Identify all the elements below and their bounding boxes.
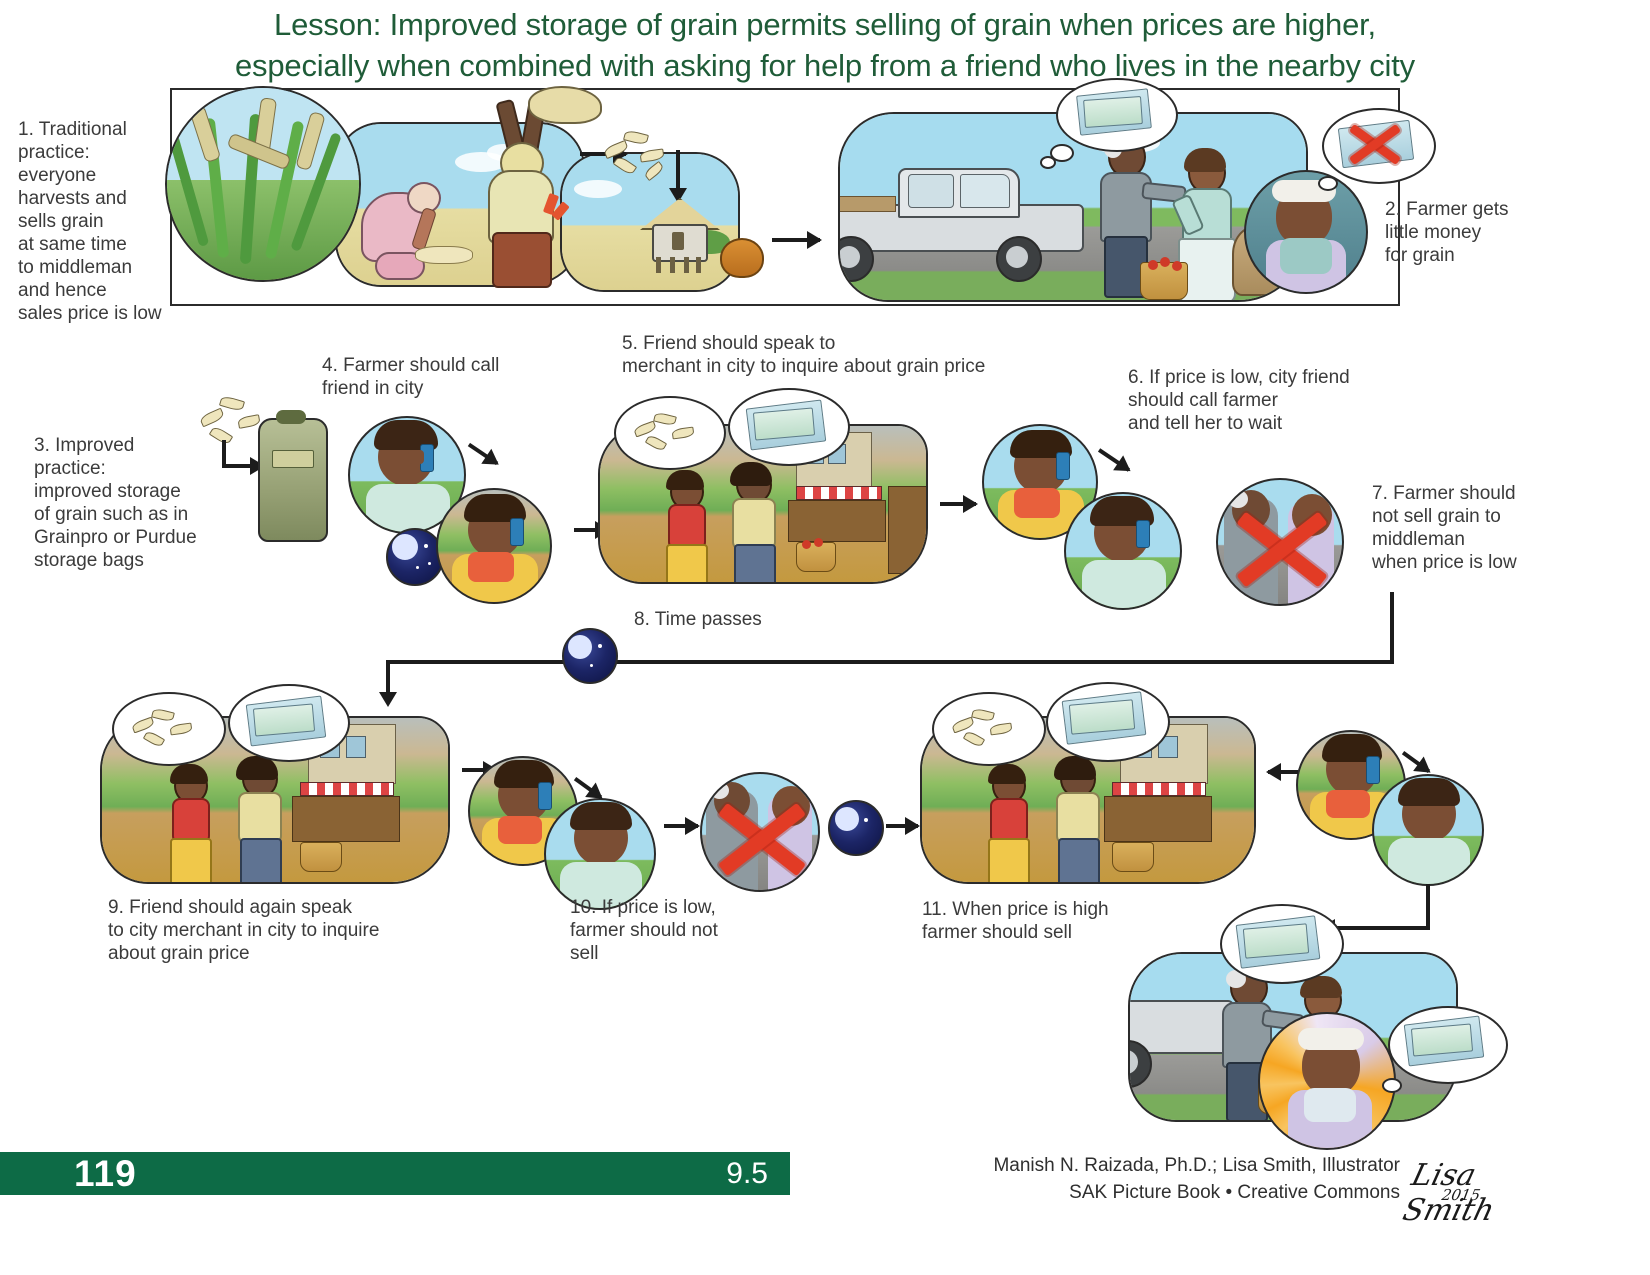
caption-step-4: 4. Farmer should call friend in city [322,354,552,400]
connector-step11-left [1332,926,1430,930]
mobile-phone-icon [1056,452,1070,480]
picture-book-page: Lesson: Improved storage of grain permit… [0,0,1650,1275]
page-title-line1: Lesson: Improved storage of grain permit… [0,4,1650,45]
arrow-step5-to-step6 [940,502,976,506]
arrow-friend-to-farmer [468,443,498,465]
connector-step7-down [1390,592,1394,664]
figure-city-merchant-9 [232,760,294,882]
grain-in-bubble-11 [950,708,1020,748]
figure-city-merchant [726,466,788,584]
scene-farmer-listening-10 [544,798,656,910]
figure-city-merchant-11 [1050,760,1112,882]
banknote-in-bubble-11 [1064,696,1148,744]
mobile-phone-icon [538,782,552,810]
grain-kernels-group [600,128,670,180]
arrow-moon-to-step11 [886,824,918,828]
caption-step-11: 11. When price is high farmer should sel… [922,898,1172,944]
time-moon-icon-step4 [386,528,444,586]
section-number: 9.5 [0,1152,768,1195]
caption-step-5: 5. Friend should speak to merchant in ci… [622,332,1042,378]
red-x-icon [1346,122,1404,164]
banknote-in-bubble-9 [248,700,328,744]
signature-year: 2015 [1440,1186,1481,1204]
credit-line-2: SAK Picture Book • Creative Commons [740,1179,1400,1206]
arrow-friend-to-farmer-6 [1098,448,1130,471]
arrow-step11-to-market-left [1268,770,1298,774]
time-passes-moon-icon-2 [828,800,884,856]
arrow-granary-to-market [772,238,820,242]
mobile-phone-icon [510,518,524,546]
figure-city-friend-9 [164,768,222,882]
figure-threshing-farmer [466,98,586,288]
scene-farmer-told-to-wait [1064,492,1182,610]
page-title: Lesson: Improved storage of grain permit… [0,4,1650,86]
banknote-crossed [1340,122,1414,166]
arrow-10a-to-10b [574,777,602,799]
market-awning [796,486,882,500]
scene-farmer-happy-11 [1372,774,1484,886]
caption-step-6: 6. If price is low, city friend should c… [1128,366,1408,435]
banknote-in-bubble-final [1238,920,1322,968]
connector-to-step9 [386,660,390,696]
illustrator-signature: Lisa Smith 2015 [1408,1158,1528,1218]
pickup-truck [838,166,1100,276]
connector-step11-down [1426,884,1430,930]
figure-bending-farmer [355,162,451,282]
credits: Manish N. Raizada, Ph.D.; Lisa Smith, Il… [740,1152,1400,1206]
red-x-icon-step7 [1234,506,1330,590]
bag-label [272,450,314,468]
caption-step-1: 1. Traditional practice: everyone harves… [18,118,178,325]
improved-storage-bag [258,418,328,542]
bag-tie [276,410,306,424]
scene-refuse-middleman-again [700,772,820,892]
arrowhead-step9 [379,692,397,707]
time-passes-moon-icon [562,628,618,684]
scene-farmer-little-money [1244,170,1368,294]
scene-happy-farmer-with-money [1258,1012,1396,1150]
grain-in-bubble-9 [130,708,200,748]
scene-refuse-middleman [1216,478,1344,606]
caption-step-10: 10. If price is low, farmer should not s… [570,896,790,965]
credit-line-1: Manish N. Raizada, Ph.D.; Lisa Smith, Il… [740,1152,1400,1179]
banknote-in-bubble-5 [748,404,828,448]
mobile-phone-icon [1366,756,1380,784]
page-title-line2: especially when combined with asking for… [0,45,1650,86]
granary-hut [636,198,720,276]
scene-farmer-on-phone [436,488,552,604]
arrow-11a-to-11b [1402,751,1430,773]
caption-step-7: 7. Farmer should not sell grain to middl… [1372,482,1622,574]
banknote-in-bubble [1078,92,1152,134]
connector-step7-left [386,660,1394,664]
scene-rice-field-circle [165,86,361,282]
arrow-step10-to-refuse [664,824,698,828]
caption-step-8: 8. Time passes [634,608,834,631]
banknote-in-bubble-happy [1406,1020,1486,1066]
mobile-phone-icon [1136,520,1150,548]
red-x-icon-step10 [716,798,808,878]
figure-city-friend-11 [982,768,1040,882]
grain-in-bubble-5 [632,412,700,452]
caption-step-9: 9. Friend should again speak to city mer… [108,896,438,965]
figure-city-friend [660,474,718,584]
arrow-grain-to-granary [676,150,680,190]
clay-pot [720,238,764,278]
caption-step-3: 3. Improved practice: improved storage o… [34,434,244,572]
caption-step-2: 2. Farmer gets little money for grain [1385,198,1585,267]
